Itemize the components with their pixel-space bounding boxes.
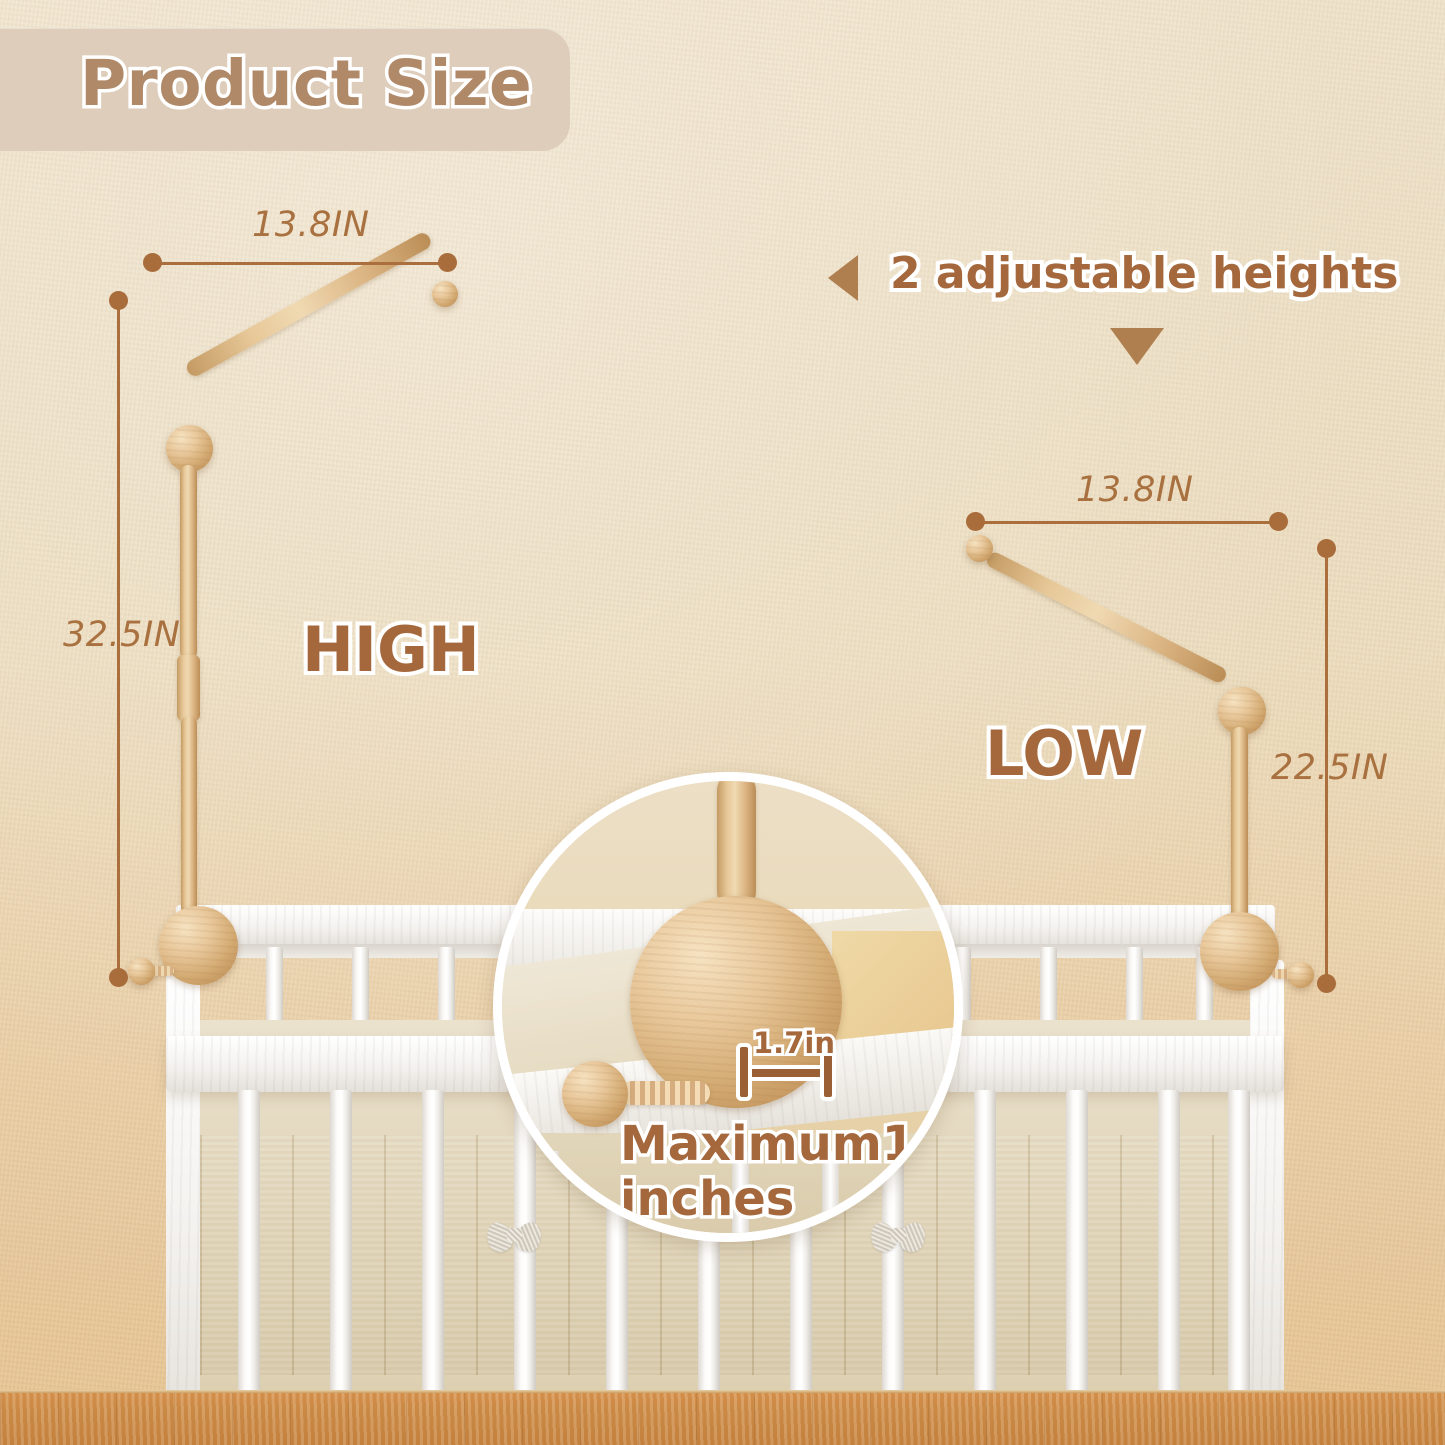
page-title: Product Size [80,47,532,120]
inset-clamp-knob [562,1061,628,1127]
high-arm-vertical-post-lower [181,716,197,916]
left-arrow-icon [828,255,858,301]
low-state-label: LOW [985,717,1143,790]
inset-clamp-screw [620,1081,710,1105]
down-arrow-icon [1110,328,1164,365]
max-diameter-line2: inches [620,1171,794,1227]
low-arm-tip-ball [966,535,993,562]
product-size-infographic: 13.8IN 32.5IN HIGH 13.8IN 22.5IN LOW 2 a… [0,0,1445,1445]
crib-right-panel [1250,960,1284,1445]
inset-post [717,772,756,911]
high-arm-extension-sleeve [177,655,200,721]
low-arm-clamp-ball [1200,912,1279,991]
high-state-label: HIGH [302,613,480,686]
caliper-label: 1.7in [753,1026,835,1060]
detail-zoom-inset: 1.7in Maximum1.7 inches [493,772,963,1242]
high-width-label: 13.8IN [252,205,369,245]
low-arm-horizontal-rod [984,550,1228,685]
low-height-label: 22.5IN [1271,748,1388,788]
low-arm-vertical-post [1231,727,1248,923]
high-height-label: 32.5IN [63,615,180,655]
high-arm-clamp-knob [128,958,155,985]
high-arm-vertical-post-upper [180,465,197,660]
max-diameter-line1: Maximum1.7 [620,1116,963,1172]
crib-left-panel [166,960,200,1445]
wood-floor [0,1393,1445,1445]
high-arm-horizontal-rod [184,230,434,379]
high-arm-tip-ball [432,281,458,307]
adjustable-heights-label: 2 adjustable heights [890,248,1398,299]
low-width-label: 13.8IN [1076,470,1193,510]
low-arm-clamp-knob [1288,962,1314,988]
